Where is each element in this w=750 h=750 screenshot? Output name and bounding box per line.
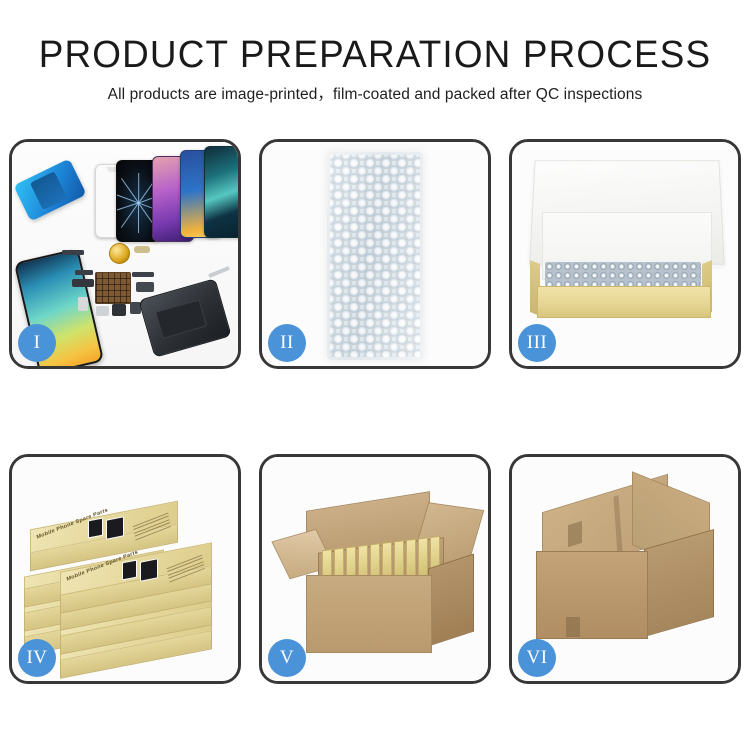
step-panel-vi[interactable]: VI — [509, 454, 741, 684]
camera-module-icon — [72, 279, 94, 287]
carton-front-panel-icon — [536, 551, 648, 639]
connector-icon — [136, 282, 154, 292]
screen-photo-icon — [122, 560, 137, 581]
step-badge-i: I — [18, 324, 56, 362]
page-subtitle: All products are image-printed，film-coat… — [0, 87, 750, 103]
step-panel-iii[interactable]: III — [509, 139, 741, 369]
step-panel-iv[interactable]: Mobile Phone Spare Parts Mobile Phone Sp… — [9, 454, 241, 684]
gold-component-icon — [109, 243, 130, 264]
step-badge-iii: III — [518, 324, 556, 362]
speaker-mesh-icon — [96, 306, 109, 316]
header: PRODUCT PREPARATION PROCESS All products… — [0, 0, 750, 103]
cable-part-icon — [75, 270, 93, 275]
ribbon-cable-icon — [132, 272, 154, 277]
carton-side-panel-icon — [428, 554, 474, 647]
step-badge-v: V — [268, 639, 306, 677]
box-front-panel-icon — [537, 286, 711, 318]
chip-board-icon — [95, 272, 131, 304]
step-panel-ii[interactable]: II — [259, 139, 491, 369]
carton-front-panel-icon — [306, 575, 432, 653]
taptic-engine-icon — [112, 304, 126, 316]
small-bracket-icon — [134, 246, 150, 253]
flex-part-icon — [62, 250, 84, 255]
step-badge-ii: II — [268, 324, 306, 362]
page-title: PRODUCT PREPARATION PROCESS — [11, 36, 739, 74]
bubble-wrap-package-icon — [327, 152, 423, 360]
screen-photo-icon — [140, 558, 158, 581]
carton-tape-icon — [566, 617, 580, 637]
screen-photo-icon — [106, 516, 124, 539]
screen-photo-icon — [88, 518, 103, 539]
step-panel-v[interactable]: V — [259, 454, 491, 684]
plastic-sheen — [327, 152, 423, 360]
teal-screen-phone-icon — [204, 146, 238, 238]
kraft-box-labelled-icon: Mobile Phone Spare Parts — [30, 515, 178, 539]
product-preparation-process-page: PRODUCT PREPARATION PROCESS All products… — [0, 0, 750, 750]
carton-tape-icon — [568, 521, 582, 547]
step-badge-iv: IV — [18, 639, 56, 677]
process-steps-grid: I II III — [9, 139, 741, 684]
carton-side-panel-icon — [644, 529, 714, 637]
battery-icon — [156, 299, 207, 338]
step-badge-vi: VI — [518, 639, 556, 677]
sim-tray-icon — [78, 297, 88, 311]
step-panel-i[interactable]: I — [9, 139, 241, 369]
